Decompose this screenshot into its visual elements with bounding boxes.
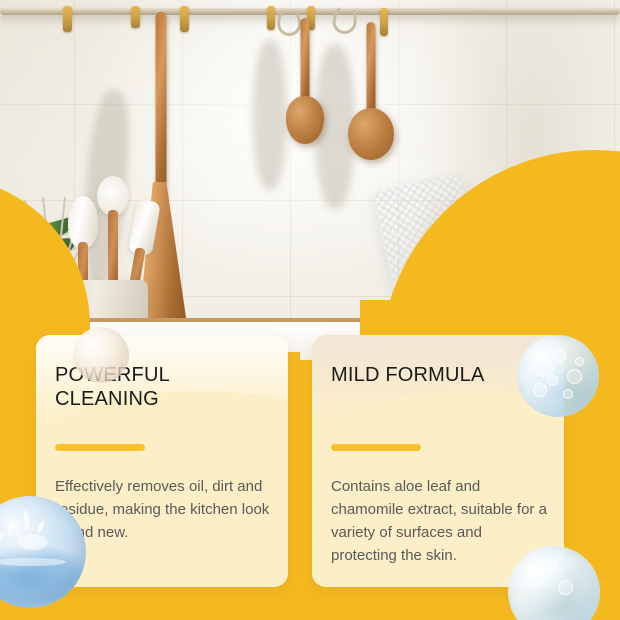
micro-bubble — [553, 349, 566, 362]
micro-bubble — [563, 389, 573, 399]
card-body-text: Contains aloe leaf and chamomile extract… — [331, 475, 547, 567]
ladle-bowl — [348, 108, 394, 160]
micro-bubble — [575, 357, 584, 366]
card-title-line2: CLEANING — [55, 388, 159, 410]
card-title: MILD FORMULA — [331, 363, 545, 387]
feature-graphic-root: POWERFULCLEANING Effectively removes oil… — [0, 0, 620, 620]
card-accent-bar — [55, 444, 145, 451]
wooden-spoon — [283, 18, 327, 158]
micro-bubble — [533, 383, 547, 397]
card-accent-bar — [331, 444, 421, 451]
splash-drop — [6, 518, 16, 535]
gold-hook-icon — [267, 6, 275, 30]
card-body-text: Effectively removes oil, dirt and residu… — [55, 475, 271, 544]
micro-bubble — [547, 375, 558, 386]
utensil-shadow — [253, 40, 287, 190]
spoon-handle — [301, 18, 310, 104]
foam-bubble-icon — [517, 335, 599, 417]
splash-drop — [23, 510, 31, 531]
micro-bubble — [544, 560, 557, 573]
micro-bubble — [567, 369, 582, 384]
spoon-bowl — [286, 96, 324, 144]
utensil-head — [68, 196, 98, 248]
cream-bubble-icon — [73, 327, 129, 383]
card-title-line1: MILD FORMULA — [331, 364, 485, 386]
spatula-handle — [156, 12, 167, 202]
gold-hook-icon — [63, 6, 72, 32]
wooden-ladle — [345, 22, 397, 182]
micro-bubble — [526, 570, 544, 588]
utensil-head — [128, 199, 161, 256]
water-surface — [0, 558, 66, 566]
micro-bubble — [558, 580, 573, 595]
splash-crown — [18, 534, 48, 550]
ladle-handle — [367, 22, 376, 118]
splash-drop — [0, 532, 5, 544]
splash-drop — [36, 520, 46, 535]
